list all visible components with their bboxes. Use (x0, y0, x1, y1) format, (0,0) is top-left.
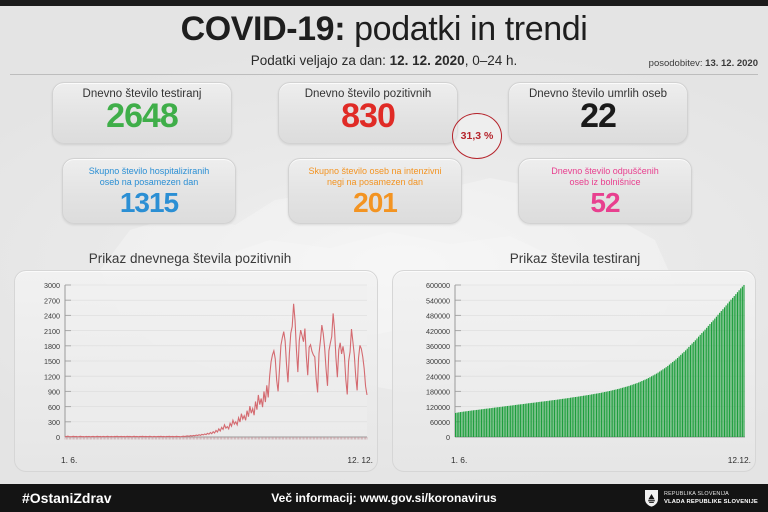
stat-card-icu: Skupno število oseb na intenzivni negi n… (288, 158, 462, 224)
chart-panel-positives: 030060090012001500180021002400270030001.… (14, 270, 378, 472)
stat-card-icu-label: Skupno število oseb na intenzivni negi n… (289, 159, 461, 188)
stat-card-icu-label-line2: negi na posamezen dan (327, 177, 423, 187)
chart-panel-tests: 0600001200001800002400003000003600004200… (392, 270, 756, 472)
stat-card-deaths-value: 22 (509, 100, 687, 133)
stat-card-discharged-value: 52 (519, 189, 691, 216)
svg-text:12.12.: 12.12. (728, 455, 751, 465)
last-updated-date: 13. 12. 2020 (705, 58, 758, 69)
svg-text:3000: 3000 (44, 281, 60, 290)
svg-text:1800: 1800 (44, 342, 60, 351)
svg-text:12. 12.: 12. 12. (347, 455, 373, 465)
svg-text:0: 0 (56, 433, 60, 442)
page-title-bold: COVID-19: (181, 10, 346, 48)
stat-card-deaths: Dnevno število umrlih oseb 22 (508, 82, 688, 144)
svg-text:2100: 2100 (44, 327, 60, 336)
svg-text:1. 6.: 1. 6. (451, 455, 467, 465)
svg-text:1500: 1500 (44, 357, 60, 366)
svg-text:480000: 480000 (426, 312, 450, 321)
stat-card-tested-value: 2648 (53, 100, 231, 133)
infographic-page: COVID-19: podatki in trendi Podatki velj… (0, 0, 768, 512)
svg-text:2400: 2400 (44, 312, 60, 321)
footer: #OstaniZdrav Več informacij: www.gov.si/… (0, 484, 768, 512)
svg-text:60000: 60000 (430, 418, 450, 427)
government-logo: REPUBLIKA SLOVENIJA VLADA REPUBLIKE SLOV… (644, 489, 758, 507)
government-logo-text: REPUBLIKA SLOVENIJA VLADA REPUBLIKE SLOV… (664, 490, 758, 506)
stat-card-hospitalized-label-line1: Skupno število hospitaliziranih (89, 166, 210, 176)
stat-card-discharged-label-line1: Dnevno število odpuščenih (551, 166, 659, 176)
svg-text:600000: 600000 (426, 281, 450, 290)
page-title-rest: podatki in trendi (345, 10, 587, 48)
stat-card-discharged-label: Dnevno število odpuščenih oseb iz bolniš… (519, 159, 691, 188)
last-updated: posodobitev: 13. 12. 2020 (649, 58, 758, 69)
subtitle-prefix: Podatki veljajo za dan: (251, 53, 390, 68)
stat-card-hospitalized-value: 1315 (63, 189, 235, 216)
svg-text:120000: 120000 (426, 403, 450, 412)
svg-text:2700: 2700 (44, 296, 60, 305)
subtitle-suffix: , 0–24 h. (465, 53, 518, 68)
svg-text:1. 6.: 1. 6. (61, 455, 77, 465)
svg-text:1200: 1200 (44, 372, 60, 381)
positivity-rate-badge: 31,3 % (452, 113, 502, 159)
chart-title-tests: Prikaz števila testiranj (410, 251, 740, 266)
svg-text:240000: 240000 (426, 372, 450, 381)
government-logo-line1: REPUBLIKA SLOVENIJA (664, 490, 758, 498)
svg-text:180000: 180000 (426, 388, 450, 397)
last-updated-label: posodobitev: (649, 58, 706, 69)
government-logo-line2: VLADA REPUBLIKE SLOVENIJE (664, 498, 758, 506)
stat-card-discharged-label-line2: oseb iz bolnišnice (569, 177, 640, 187)
svg-text:540000: 540000 (426, 296, 450, 305)
stat-card-hospitalized-label-line2: oseb na posamezen dan (100, 177, 199, 187)
stat-card-positive-value: 830 (279, 100, 457, 133)
header-divider (10, 74, 758, 75)
page-title: COVID-19: podatki in trendi (0, 10, 768, 48)
svg-text:300000: 300000 (426, 357, 450, 366)
svg-text:360000: 360000 (426, 342, 450, 351)
svg-text:0: 0 (446, 433, 450, 442)
stat-card-hospitalized-label: Skupno število hospitaliziranih oseb na … (63, 159, 235, 188)
stat-card-icu-label-line1: Skupno število oseb na intenzivni (308, 166, 441, 176)
svg-text:600: 600 (48, 403, 60, 412)
stat-card-icu-value: 201 (289, 189, 461, 216)
stat-card-tested: Dnevno število testiranj 2648 (52, 82, 232, 144)
stat-card-discharged: Dnevno število odpuščenih oseb iz bolniš… (518, 158, 692, 224)
subtitle-date: 12. 12. 2020 (390, 53, 465, 68)
slovenia-coat-of-arms-icon (644, 489, 659, 507)
stat-card-positive: Dnevno število pozitivnih 830 (278, 82, 458, 144)
svg-text:900: 900 (48, 388, 60, 397)
svg-text:420000: 420000 (426, 327, 450, 336)
chart-title-positives: Prikaz dnevnega števila pozitivnih (25, 251, 355, 266)
svg-text:300: 300 (48, 418, 60, 427)
stat-card-hospitalized: Skupno število hospitaliziranih oseb na … (62, 158, 236, 224)
chart-tests: 0600001200001800002400003000003600004200… (393, 271, 755, 471)
header: COVID-19: podatki in trendi Podatki velj… (0, 6, 768, 74)
chart-positives: 030060090012001500180021002400270030001.… (15, 271, 377, 471)
